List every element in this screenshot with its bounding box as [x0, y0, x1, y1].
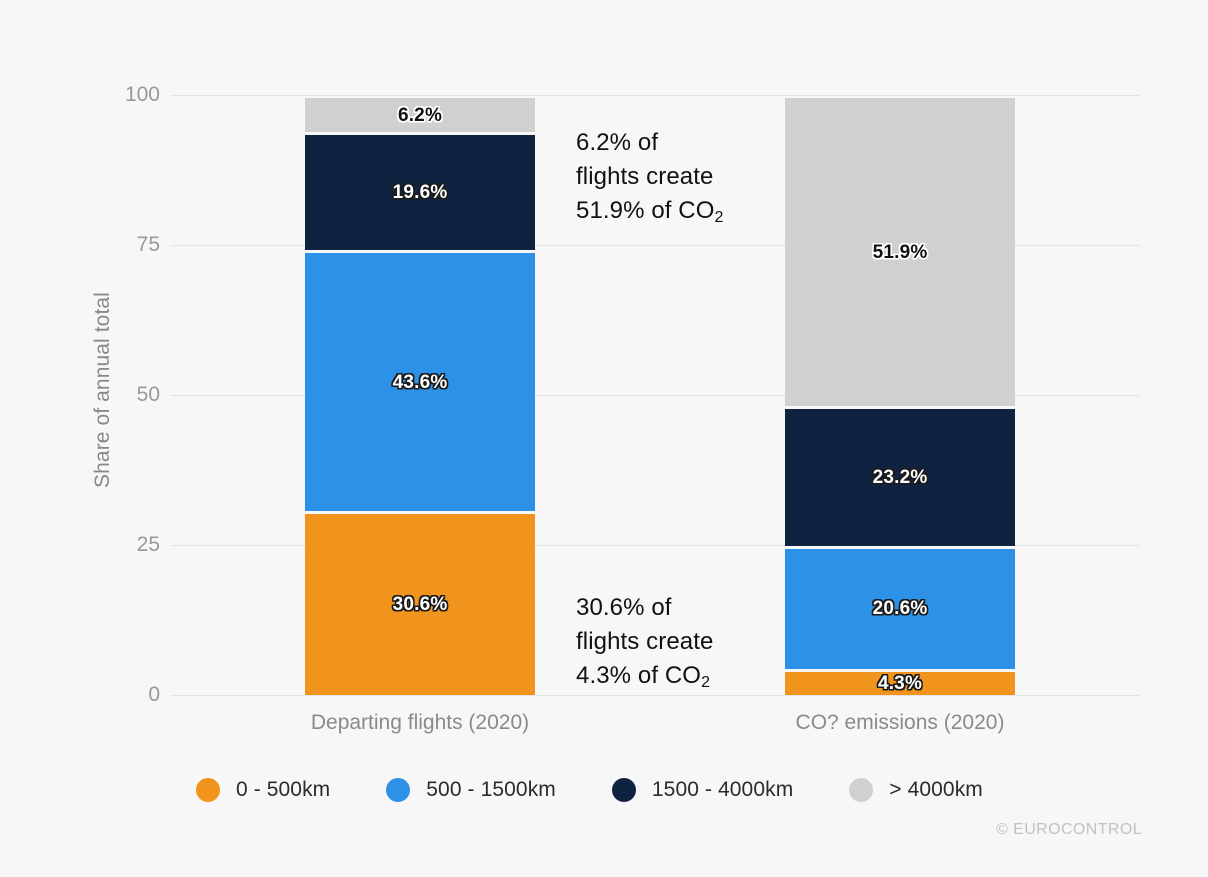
x-axis-category-label: CO? emissions (2020): [750, 711, 1050, 735]
bar-segment-value-label: 51.9%: [873, 243, 928, 262]
x-axis-category-label: Departing flights (2020): [270, 711, 570, 735]
bar-stack[interactable]: 30.6%43.6%19.6%6.2%: [305, 95, 535, 695]
annotation-line: 30.6% of: [576, 591, 713, 625]
bar-segment-value-label: 6.2%: [398, 106, 442, 125]
bar-segment-value-label: 30.6%: [393, 595, 448, 614]
legend-swatch-circle-icon: [849, 778, 873, 802]
annotation-line: 4.3% of CO2: [576, 659, 713, 696]
bar-segment-value-label: 43.6%: [393, 373, 448, 392]
y-axis-tick-label: 75: [100, 234, 160, 255]
chart-annotation: 30.6% offlights create4.3% of CO2: [576, 591, 713, 696]
bar-segment-value-label: 23.2%: [873, 468, 928, 487]
bar-segment[interactable]: 30.6%: [305, 514, 535, 695]
annotation-line: 6.2% of: [576, 126, 724, 160]
legend-item[interactable]: 1500 - 4000km: [612, 778, 793, 802]
annotation-line: flights create: [576, 160, 724, 194]
legend: 0 - 500km500 - 1500km1500 - 4000km> 4000…: [196, 778, 1039, 802]
legend-item[interactable]: 0 - 500km: [196, 778, 330, 802]
y-axis-tick-label: 50: [100, 384, 160, 405]
bar-segment[interactable]: 6.2%: [305, 98, 535, 132]
bar-segment[interactable]: 43.6%: [305, 253, 535, 512]
y-axis-tick-label: 0: [100, 684, 160, 705]
bar-segment-value-label: 20.6%: [873, 599, 928, 618]
bar-segment[interactable]: 4.3%: [785, 672, 1015, 695]
legend-item[interactable]: 500 - 1500km: [386, 778, 556, 802]
credit-text: © EUROCONTROL: [996, 821, 1142, 839]
y-axis-tick-label: 100: [100, 84, 160, 105]
legend-item[interactable]: > 4000km: [849, 778, 983, 802]
legend-item-label: 0 - 500km: [236, 778, 330, 802]
bar-segment[interactable]: 23.2%: [785, 409, 1015, 545]
legend-item-label: 1500 - 4000km: [652, 778, 793, 802]
bar-segment-value-label: 19.6%: [393, 183, 448, 202]
annotation-line: 51.9% of CO2: [576, 194, 724, 231]
legend-swatch-circle-icon: [612, 778, 636, 802]
legend-item-label: 500 - 1500km: [426, 778, 556, 802]
bar-segment-value-label: 4.3%: [878, 674, 922, 693]
annotation-line: flights create: [576, 625, 713, 659]
bar-segment[interactable]: 19.6%: [305, 135, 535, 250]
stacked-bar-chart: Share of annual total 1007550250 30.6%43…: [0, 0, 1208, 877]
legend-swatch-circle-icon: [386, 778, 410, 802]
bar-segment[interactable]: 20.6%: [785, 549, 1015, 670]
legend-item-label: > 4000km: [889, 778, 983, 802]
y-axis-tick-label: 25: [100, 534, 160, 555]
bar-segment[interactable]: 51.9%: [785, 98, 1015, 406]
bar-stack[interactable]: 4.3%20.6%23.2%51.9%: [785, 95, 1015, 695]
legend-swatch-circle-icon: [196, 778, 220, 802]
chart-annotation: 6.2% offlights create51.9% of CO2: [576, 126, 724, 231]
